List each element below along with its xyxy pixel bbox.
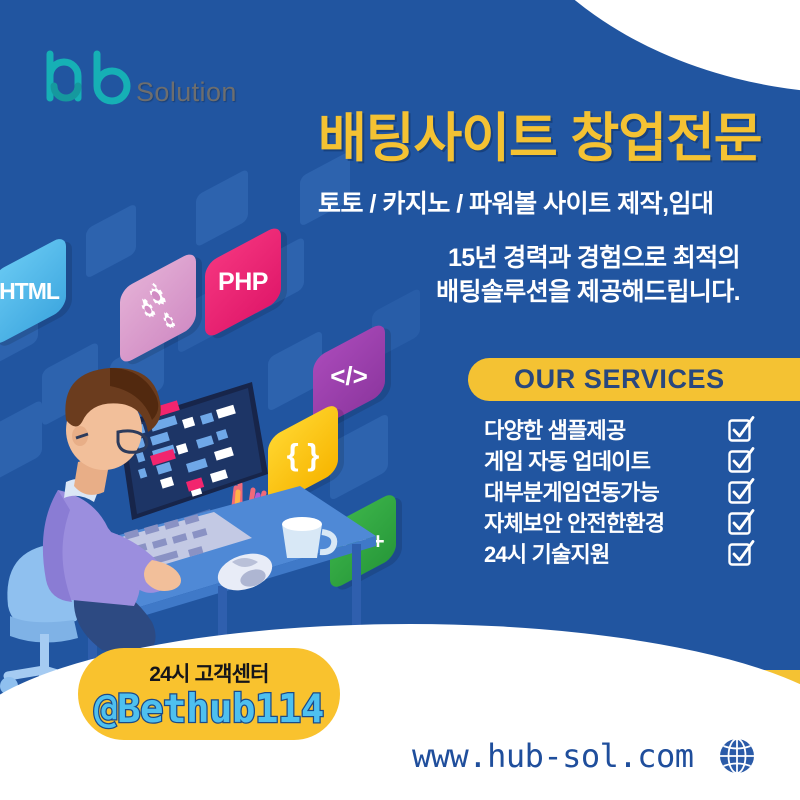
contact-label: 24시 고객센터 [149,664,268,685]
checkbox-checked-icon [727,509,754,536]
service-item-5: 24시 기술지원 [484,538,754,568]
our-services-label: OUR SERVICES [514,364,725,395]
checkbox-checked-icon [727,416,754,443]
service-label: 24시 기술지원 [484,537,609,569]
checkbox-checked-icon [727,540,754,567]
brand-logo: Solution [42,48,237,110]
website-row[interactable]: www.hub-sol.com [412,734,759,778]
service-item-2: 게임 자동 업데이트 [484,445,754,475]
promo-banner: Solution 배팅사이트 창업전문 토토 / 카지노 / 파워볼 사이트 제… [0,0,800,800]
service-label: 자체보안 안전한환경 [484,506,664,538]
logo-wordmark: Solution [136,77,237,108]
hero-tagline: 15년 경력과 경험으로 최적의 배팅솔루션을 제공해드립니다. [318,242,788,309]
page-title: 배팅사이트 창업전문 [318,110,788,168]
service-list: 다양한 샘플제공 게임 자동 업데이트 대부분게임연동가능 [484,414,754,569]
service-label: 다양한 샘플제공 [484,413,625,445]
contact-pill[interactable]: 24시 고객센터 @Bethub114 [78,648,340,740]
service-label: 대부분게임연동가능 [484,475,659,507]
service-item-4: 자체보안 안전한환경 [484,507,754,537]
checkbox-checked-icon [727,478,754,505]
php-badge: PHP [205,224,281,340]
tagline-line-1: 15년 경력과 경험으로 최적의 [318,242,740,276]
hub-logo-icon [42,48,134,110]
checkbox-checked-icon [727,447,754,474]
hero-text-block: 배팅사이트 창업전문 토토 / 카지노 / 파워볼 사이트 제작,임대 15년 … [318,110,788,309]
globe-icon [715,734,759,778]
contact-handle[interactable]: @Bethub114 [94,690,324,729]
tagline-line-2: 배팅솔루션을 제공해드립니다. [318,276,740,310]
service-item-1: 다양한 샘플제공 [484,414,754,444]
service-item-3: 대부분게임연동가능 [484,476,754,506]
service-label: 게임 자동 업데이트 [484,444,650,476]
hero-subtitle: 토토 / 카지노 / 파워볼 사이트 제작,임대 [318,184,788,220]
website-url[interactable]: www.hub-sol.com [412,737,693,775]
our-services-header: OUR SERVICES [468,358,800,401]
